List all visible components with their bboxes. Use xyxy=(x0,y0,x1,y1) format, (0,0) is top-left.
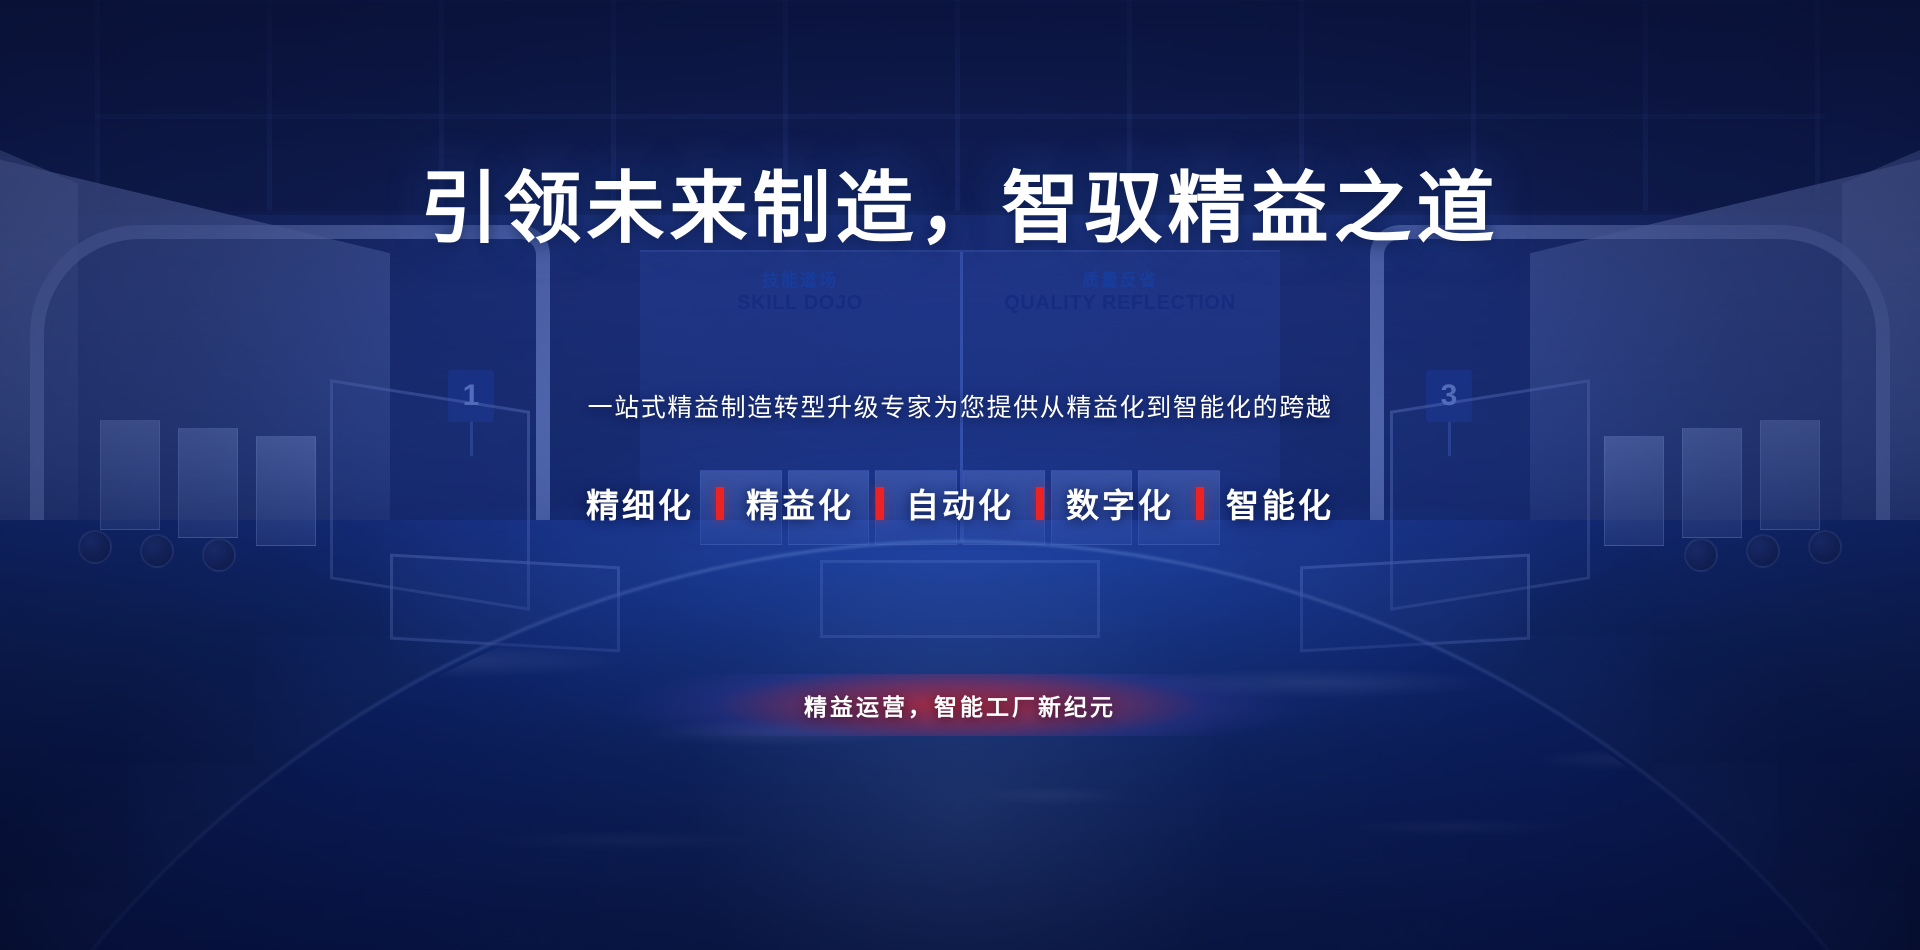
keyword-item: 数字化 xyxy=(1044,479,1196,527)
hero-subtitle: 一站式精益制造转型升级专家为您提供从精益化到智能化的跨越 xyxy=(588,388,1333,424)
keyword-separator-icon xyxy=(1036,487,1044,520)
status-badge: 精益运营，智能工厂新纪元 xyxy=(620,674,1300,736)
status-badge-label: 精益运营，智能工厂新纪元 xyxy=(804,688,1116,722)
hero-banner: 技能道场 SKILL DOJO 质量反省 QUALITY REFLECTION … xyxy=(0,0,1920,950)
keyword-separator-icon xyxy=(876,487,884,520)
keyword-list: 精细化 精益化 自动化 数字化 智能化 xyxy=(564,479,1356,527)
hero-content: 引领未来制造，智驭精益之道 一站式精益制造转型升级专家为您提供从精益化到智能化的… xyxy=(0,0,1920,950)
keyword-item: 精益化 xyxy=(724,479,876,527)
keyword-separator-icon xyxy=(716,487,724,520)
keyword-item: 智能化 xyxy=(1204,479,1356,527)
keyword-item: 自动化 xyxy=(884,479,1036,527)
keyword-separator-icon xyxy=(1196,487,1204,520)
page-title: 引领未来制造，智驭精益之道 xyxy=(420,146,1499,258)
keyword-item: 精细化 xyxy=(564,479,716,527)
